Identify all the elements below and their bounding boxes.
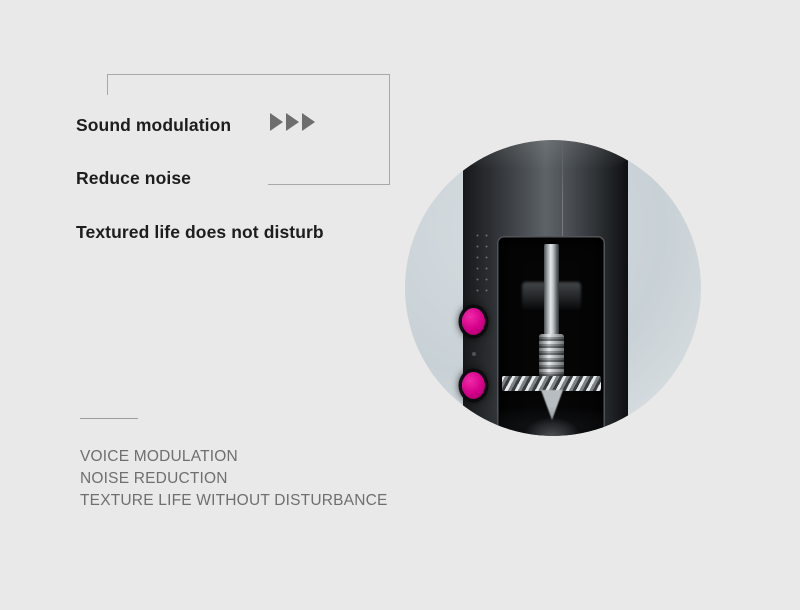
frame-top-edge xyxy=(107,74,390,75)
caption-line-voice-modulation: VOICE MODULATION xyxy=(80,446,388,468)
mechanism-plate xyxy=(502,376,601,391)
text-panel: Sound modulation Reduce noise Textured l… xyxy=(0,0,420,610)
device-shadow xyxy=(457,406,637,436)
caption-line-texture-life: TEXTURE LIFE WITHOUT DISTURBANCE xyxy=(80,490,388,512)
heading-textured-life: Textured life does not disturb xyxy=(76,222,324,243)
heading-sound-modulation: Sound modulation xyxy=(76,115,231,136)
play-triangle-icon xyxy=(302,113,315,131)
play-triangle-icon xyxy=(270,113,283,131)
caption-divider xyxy=(80,418,138,419)
arrow-group xyxy=(270,113,315,131)
frame-left-edge xyxy=(107,74,108,95)
device-indicator-dot xyxy=(472,352,476,356)
caption-list: VOICE MODULATION NOISE REDUCTION TEXTURE… xyxy=(80,446,388,512)
mechanism-shaft xyxy=(544,244,559,340)
device-button-lower xyxy=(462,372,485,399)
heading-reduce-noise: Reduce noise xyxy=(76,168,191,189)
frame-right-edge xyxy=(389,74,390,185)
caption-line-noise-reduction: NOISE REDUCTION xyxy=(80,468,388,490)
circular-backdrop xyxy=(405,140,701,436)
product-feature-banner: Sound modulation Reduce noise Textured l… xyxy=(0,0,800,610)
device-button-upper xyxy=(462,308,485,335)
frame-bottom-edge xyxy=(268,184,390,185)
device-top-highlight xyxy=(463,140,628,170)
device-texture-dots xyxy=(473,230,491,292)
product-clip xyxy=(405,140,701,436)
product-photo xyxy=(400,130,710,510)
play-triangle-icon xyxy=(286,113,299,131)
